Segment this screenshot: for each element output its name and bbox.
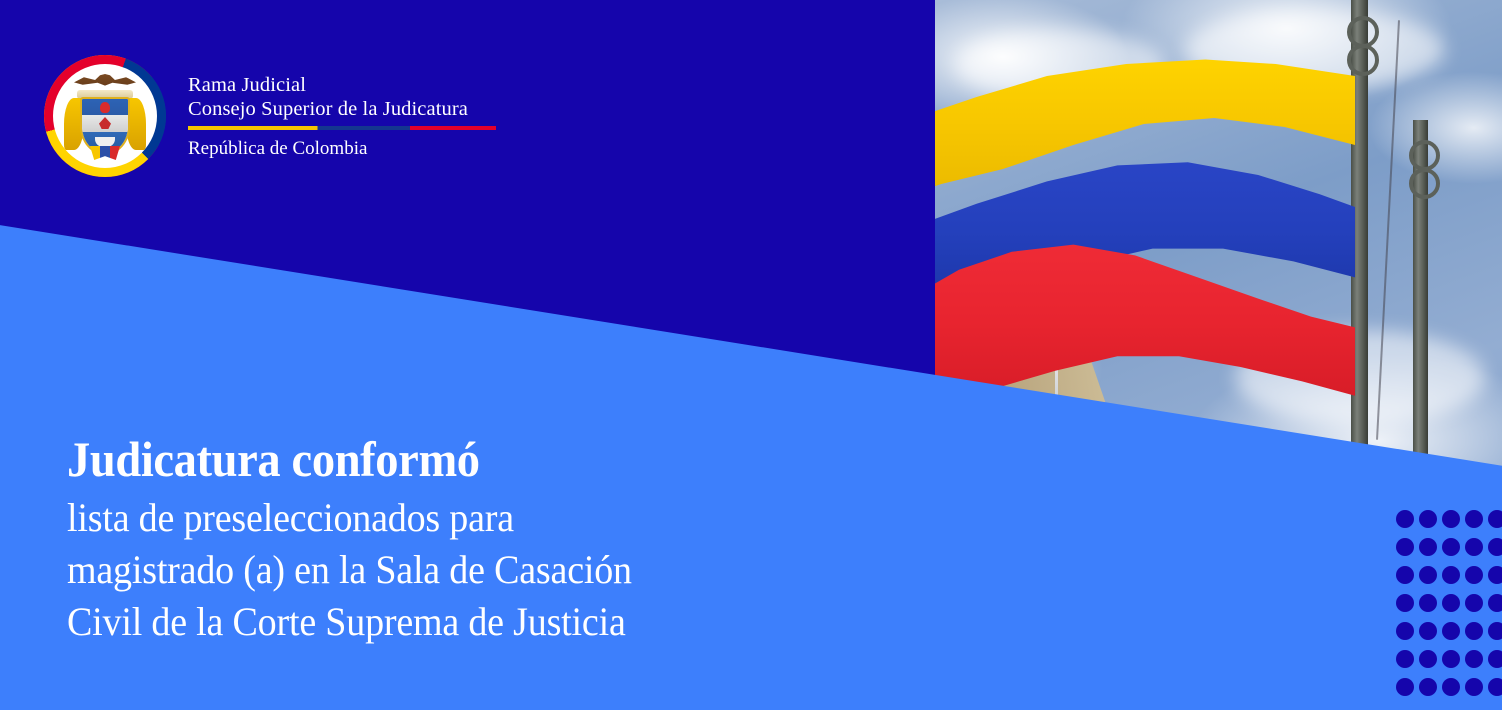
dot (1442, 622, 1460, 640)
dot (1419, 622, 1437, 640)
dot (1442, 650, 1460, 668)
dot (1419, 510, 1437, 528)
coat-of-arms-icon (66, 72, 144, 160)
dot (1396, 678, 1414, 696)
dot (1465, 678, 1483, 696)
dot (1442, 678, 1460, 696)
dot (1488, 678, 1502, 696)
dot (1442, 594, 1460, 612)
headline-main: Judicatura conformó (67, 430, 718, 488)
dot (1488, 622, 1502, 640)
brand-text-block: Rama Judicial Consejo Superior de la Jud… (188, 55, 496, 160)
dot (1465, 650, 1483, 668)
dot (1465, 594, 1483, 612)
dot (1419, 566, 1437, 584)
colombian-flag-icon (935, 55, 1355, 355)
dot (1396, 622, 1414, 640)
dot (1488, 650, 1502, 668)
headline-sub-line-2: magistrado (a) en la Sala de Casación (67, 544, 732, 596)
judicial-news-banner: Rama Judicial Consejo Superior de la Jud… (0, 0, 1502, 710)
dot (1396, 594, 1414, 612)
dot (1442, 510, 1460, 528)
rama-judicial-emblem-icon (44, 55, 166, 177)
dot (1396, 510, 1414, 528)
dot (1488, 594, 1502, 612)
dot (1419, 678, 1437, 696)
dot (1465, 510, 1483, 528)
flag-ribbon (90, 146, 120, 160)
dot (1419, 538, 1437, 556)
dot (1465, 622, 1483, 640)
dot (1396, 566, 1414, 584)
headline-sub-line-3: Civil de la Corte Suprema de Justicia (67, 596, 732, 648)
brand-line-consejo-superior: Consejo Superior de la Judicatura (188, 97, 496, 121)
brand-line-rama-judicial: Rama Judicial (188, 73, 496, 97)
dot (1396, 650, 1414, 668)
dot (1488, 538, 1502, 556)
dot (1465, 566, 1483, 584)
dot (1465, 538, 1483, 556)
dot (1419, 594, 1437, 612)
dot (1442, 538, 1460, 556)
emblem-inner-disc (53, 64, 157, 168)
pomegranate-icon (100, 102, 110, 113)
dot (1488, 566, 1502, 584)
brand-line-republica: República de Colombia (188, 137, 496, 160)
decorative-dot-grid (1396, 510, 1502, 710)
dot (1442, 566, 1460, 584)
headline-block: Judicatura conformó lista de preseleccio… (67, 430, 767, 648)
pole-ring (1409, 140, 1440, 171)
dot (1396, 538, 1414, 556)
headline-sub-line-1: lista de preseleccionados para (67, 492, 732, 544)
pole-ring (1409, 168, 1440, 199)
brand-lockup: Rama Judicial Consejo Superior de la Jud… (44, 55, 496, 177)
brand-tricolor-rule (188, 126, 496, 130)
dot (1488, 510, 1502, 528)
dot (1419, 650, 1437, 668)
